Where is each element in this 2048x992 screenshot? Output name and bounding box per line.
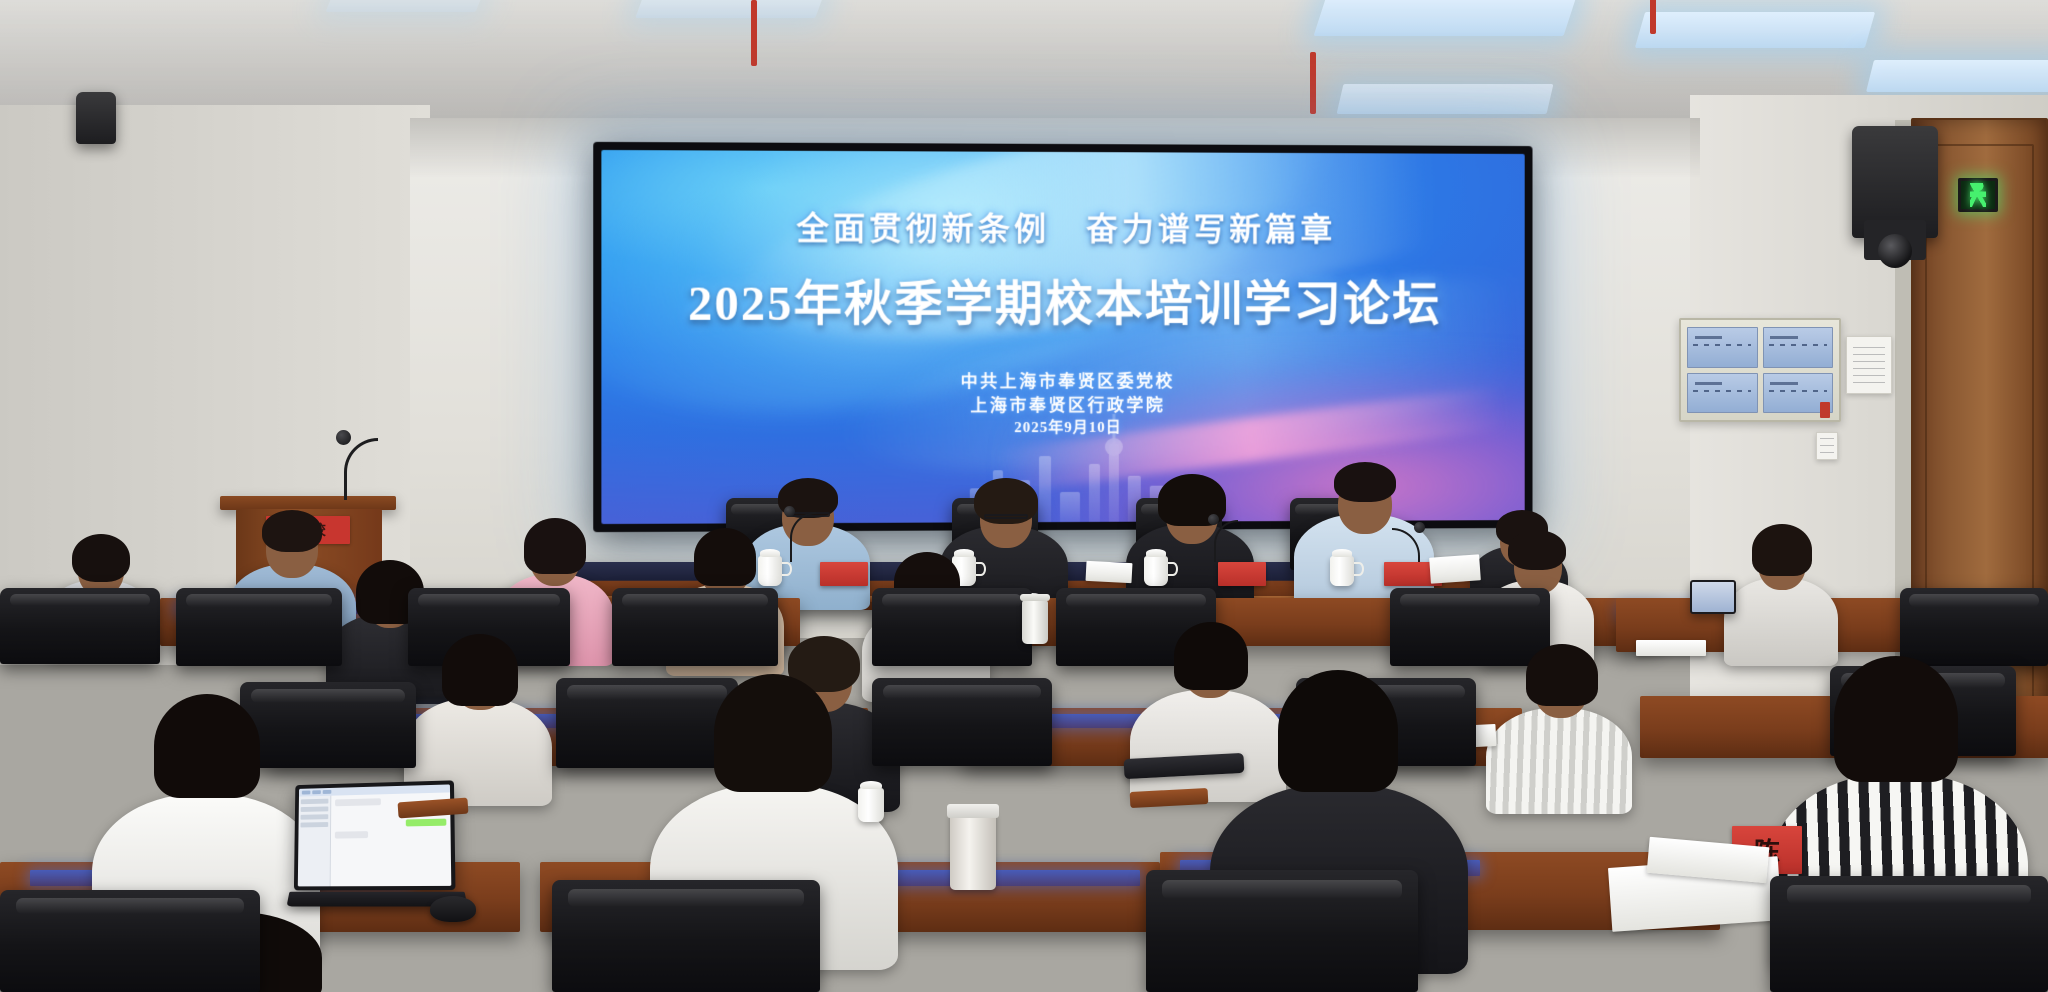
ceiling-light-panel [1866, 60, 2048, 92]
sprinkler-pipe [1650, 0, 1656, 34]
list-item [301, 799, 329, 805]
audience-person [1486, 640, 1634, 790]
running-man-icon [1970, 183, 1986, 207]
person-torso [1724, 578, 1838, 666]
water-tumbler [1022, 600, 1048, 644]
document-stack [1429, 554, 1481, 583]
document-stack [1636, 640, 1706, 656]
person-hair [1508, 530, 1566, 570]
audience-chair-foreground[interactable] [0, 890, 260, 992]
person-hair [72, 534, 130, 582]
toolbar-chip [312, 790, 321, 794]
person-hair [262, 510, 322, 552]
teacup [858, 788, 884, 822]
audience-chair-foreground[interactable] [1770, 876, 2048, 992]
ceiling-light-panel [1337, 84, 1554, 114]
person-hair [154, 694, 260, 798]
audience-chair-foreground[interactable] [552, 880, 820, 992]
conference-hall-photo: 全面贯彻新条例 奋力谱写新篇章 2025年秋季学期校本培训学习论坛 中共上海市奉… [0, 0, 2048, 992]
monitor-screen [1692, 582, 1734, 612]
tumbler-lid [1020, 594, 1049, 601]
electrical-distribution-panel[interactable] [1679, 318, 1841, 422]
person-hair [1526, 644, 1598, 706]
sprinkler-pipe [751, 0, 757, 66]
laptop-lid [294, 780, 456, 890]
chat-bubble-incoming [335, 831, 368, 838]
contact-list[interactable] [298, 796, 331, 887]
computer-mouse[interactable] [430, 896, 476, 922]
table-microphone-head [784, 506, 795, 517]
person-torso [1486, 708, 1632, 814]
wall-speaker-left [76, 92, 116, 144]
list-item [301, 806, 329, 812]
person-hair [1278, 670, 1398, 792]
teacup [1330, 556, 1354, 586]
table-microphone-head [1414, 522, 1425, 533]
audience-chair[interactable] [0, 588, 160, 664]
fire-alarm-button[interactable] [1820, 402, 1830, 418]
screen-main-title: 2025年秋季学期校本培训学习论坛 [601, 263, 1524, 334]
wall-socket-plate [1816, 432, 1838, 460]
person-hair [694, 528, 756, 586]
teacup [1144, 556, 1168, 586]
chat-bubble-incoming [335, 798, 381, 806]
audience-person [1724, 524, 1840, 646]
audience-chair[interactable] [176, 588, 342, 666]
screen-tagline: 全面贯彻新条例 奋力谱写新篇章 [601, 202, 1524, 250]
person-hair [524, 518, 586, 574]
teacup-handle [1168, 562, 1178, 576]
panel-pane [1687, 327, 1758, 368]
screen-org-line-1: 中共上海市奉贤区委党校 [601, 369, 1524, 394]
ceiling-light-panel [326, 0, 485, 12]
table-glass-insert [860, 870, 1140, 886]
emergency-exit-sign [1958, 178, 1998, 212]
chat-bubble-outgoing [405, 819, 446, 827]
wall-notice-sheet [1846, 336, 1892, 394]
ceiling-light-panel [635, 0, 824, 18]
person-hair [1834, 656, 1958, 782]
ceiling-light-panel [1314, 0, 1577, 36]
audience-chair-foreground[interactable] [1146, 870, 1418, 992]
audience-person [404, 632, 554, 782]
eyeglasses [984, 514, 1028, 519]
screen-organization: 中共上海市奉贤区委党校 上海市奉贤区行政学院 2025年9月10日 [601, 369, 1524, 440]
chair-armrest [1130, 788, 1209, 808]
list-item [300, 822, 328, 827]
screen-text-block: 全面贯彻新条例 奋力谱写新篇章 2025年秋季学期校本培训学习论坛 中共上海市奉… [601, 202, 1524, 440]
audience-chair[interactable] [1900, 588, 2048, 666]
list-item [301, 814, 329, 819]
sprinkler-pipe [1310, 52, 1316, 114]
document-stack [1086, 561, 1133, 583]
exit-sign-face [1961, 181, 1995, 208]
person-hair [1752, 524, 1812, 576]
chair-armrest [398, 798, 469, 819]
panel-pane [1763, 327, 1834, 368]
person-hair [1334, 462, 1396, 502]
table-microphone-head [1208, 514, 1219, 525]
cup-lid [947, 804, 999, 818]
laptop-computer[interactable] [294, 780, 456, 890]
lectern-microphone-head [336, 430, 351, 445]
wall-speaker-right [1852, 126, 1938, 238]
head-nameplate [1218, 562, 1266, 586]
speaker-cone [1878, 234, 1912, 268]
desktop-monitor[interactable] [1690, 580, 1736, 614]
coffee-cup [950, 812, 996, 890]
teacup-handle [1354, 562, 1364, 576]
person-hair [714, 674, 832, 792]
ceiling-light-panel [1635, 12, 1875, 48]
toolbar-chip [302, 790, 311, 794]
head-nameplate [820, 562, 868, 586]
person-hair [442, 634, 518, 706]
panel-pane [1687, 373, 1758, 414]
toolbar-chip [323, 790, 332, 794]
screen-date: 2025年9月10日 [601, 417, 1524, 440]
screen-org-line-2: 上海市奉贤区行政学院 [601, 393, 1524, 419]
